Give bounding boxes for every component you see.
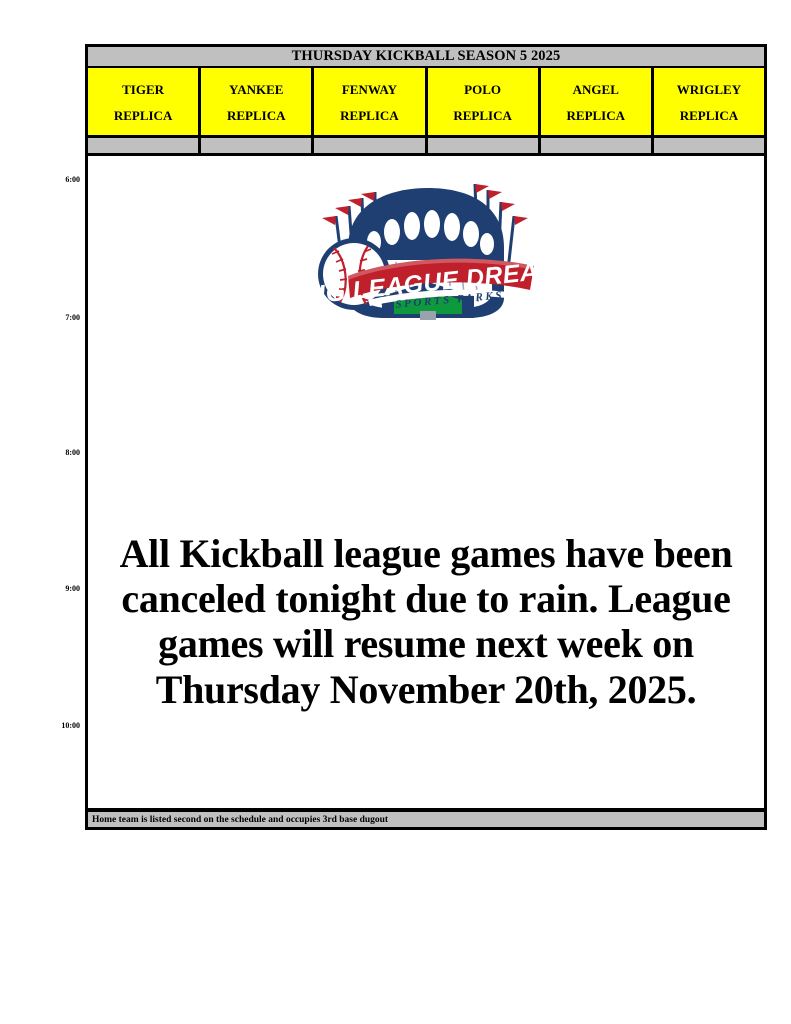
field-column-polo[interactable]: POLO REPLICA [428,68,541,135]
field-column-wrigley[interactable]: WRIGLEY REPLICA [654,68,764,135]
spacer-cell [201,138,314,153]
spacer-cell [88,138,201,153]
field-suffix-yankee: REPLICA [227,109,286,122]
announcement-line-3: games will resume next week on [96,621,756,666]
field-header-row: TIGER REPLICA YANKEE REPLICA FENWAY REPL… [85,68,767,138]
field-name-tiger: TIGER [122,83,164,96]
field-suffix-fenway: REPLICA [340,109,399,122]
field-name-wrigley: WRIGLEY [677,83,741,96]
schedule-title-bar: THURSDAY KICKBALL SEASON 5 2025 [85,44,767,68]
field-suffix-angel: REPLICA [567,109,626,122]
footer-note-text: Home team is listed second on the schedu… [92,815,388,825]
time-label-600: 6:00 [46,176,80,184]
field-column-angel[interactable]: ANGEL REPLICA [541,68,654,135]
header-spacer-row [85,138,767,156]
footer-note-row: Home team is listed second on the schedu… [85,811,767,830]
schedule-grid-body: BIG LEAGUE DREAMS SPORTS PARKS All Kickb… [85,156,767,811]
field-name-polo: POLO [464,83,501,96]
announcement-line-4: Thursday November 20th, 2025. [96,667,756,712]
spacer-cell [428,138,541,153]
field-column-fenway[interactable]: FENWAY REPLICA [314,68,427,135]
time-label-700: 7:00 [46,314,80,322]
field-name-angel: ANGEL [573,83,619,96]
field-suffix-polo: REPLICA [453,109,512,122]
field-column-yankee[interactable]: YANKEE REPLICA [201,68,314,135]
schedule-sheet: THURSDAY KICKBALL SEASON 5 2025 TIGER RE… [85,44,767,830]
field-column-tiger[interactable]: TIGER REPLICA [88,68,201,135]
field-name-fenway: FENWAY [342,83,397,96]
field-suffix-wrigley: REPLICA [680,109,739,122]
spacer-cell [541,138,654,153]
time-label-900: 9:00 [46,585,80,593]
spacer-cell [314,138,427,153]
spacer-cell [654,138,764,153]
big-league-dreams-logo: BIG LEAGUE DREAMS SPORTS PARKS [308,178,544,326]
announcement-line-1: All Kickball league games have been [96,531,756,576]
field-name-yankee: YANKEE [229,83,283,96]
cancellation-announcement: All Kickball league games have been canc… [96,531,756,712]
time-label-1000: 10:00 [46,722,80,730]
announcement-line-2: canceled tonight due to rain. League [96,576,756,621]
field-suffix-tiger: REPLICA [114,109,173,122]
page-title: THURSDAY KICKBALL SEASON 5 2025 [292,48,561,65]
time-label-800: 8:00 [46,449,80,457]
